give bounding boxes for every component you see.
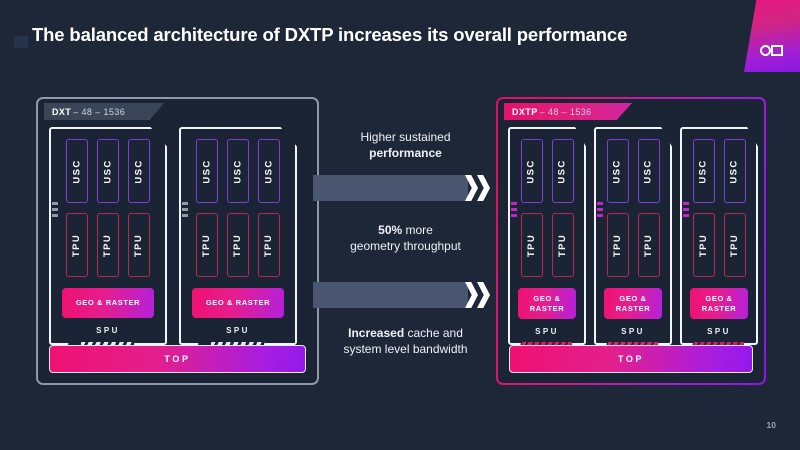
- brand-corner-flag: [744, 0, 800, 72]
- callout-3-line2: system level bandwidth: [343, 342, 467, 356]
- arrow-performance: [313, 175, 498, 201]
- spu-frame: [508, 127, 586, 345]
- panel-dxtp-tab-name: DXTP: [512, 107, 538, 117]
- arrow-bandwidth: [313, 282, 498, 308]
- callout-performance: Higher sustained performance: [313, 129, 498, 161]
- arrow-shaft: [313, 175, 468, 201]
- spu-frame: [594, 127, 672, 345]
- panel-dxtp-tab-spec: – 48 – 1536: [540, 107, 592, 117]
- logo-square-icon: [771, 45, 783, 56]
- top-bus-bar[interactable]: TOP: [509, 345, 753, 373]
- logo-circle-icon: [760, 45, 771, 56]
- callout-1-line1: Higher sustained: [360, 130, 450, 144]
- panel-dxt-tab-name: DXT: [52, 107, 71, 117]
- callout-geometry: 50% more geometry throughput: [313, 222, 498, 254]
- spu-tick-marks-icon: [683, 202, 689, 217]
- spu-frame: [680, 127, 758, 345]
- spu-block[interactable]: USC USC USC TPU TPU TPU GEO & RASTER SPU: [179, 127, 297, 355]
- dxtp-spu-row: USC USC TPU TPU GEO &RASTER SPU USC: [508, 127, 758, 355]
- callout-2-lead-rest: more: [402, 223, 433, 237]
- spu-block[interactable]: USC USC TPU TPU GEO &RASTER SPU: [594, 127, 672, 355]
- callout-3-lead: Increased: [348, 326, 404, 340]
- spu-tick-marks-icon: [52, 202, 58, 217]
- callout-2-line2: geometry throughput: [350, 239, 461, 253]
- panel-dxt-tab: DXT – 48 – 1536: [44, 103, 164, 120]
- panel-dxt-tab-spec: – 48 – 1536: [73, 107, 125, 117]
- spu-tick-marks-icon: [597, 202, 603, 217]
- page-title: The balanced architecture of DXTP increa…: [32, 24, 627, 46]
- title-bar: The balanced architecture of DXTP increa…: [0, 24, 740, 60]
- spu-block[interactable]: USC USC TPU TPU GEO &RASTER SPU: [680, 127, 758, 355]
- chevron-right-icon: [477, 282, 490, 308]
- brand-logo: [760, 44, 786, 58]
- spu-tick-marks-icon: [511, 202, 517, 217]
- top-bus-bar[interactable]: TOP: [49, 345, 306, 373]
- arrow-shaft: [313, 282, 468, 308]
- callout-2-lead: 50%: [378, 223, 402, 237]
- page-number: 10: [767, 420, 776, 430]
- panel-dxt: DXT – 48 – 1536 USC USC USC TPU TPU TPU …: [36, 97, 319, 385]
- chevron-right-icon: [477, 175, 490, 201]
- panel-dxtp: DXTP – 48 – 1536 USC USC TPU TPU GEO &RA…: [496, 97, 766, 385]
- callout-column: Higher sustained performance 50% more ge…: [313, 97, 498, 385]
- callout-1-line2: performance: [369, 146, 442, 160]
- slide-canvas: The balanced architecture of DXTP increa…: [0, 0, 800, 450]
- spu-block[interactable]: USC USC USC TPU TPU TPU GEO & RASTER SPU: [49, 127, 167, 355]
- spu-block[interactable]: USC USC TPU TPU GEO &RASTER SPU: [508, 127, 586, 355]
- title-marker-icon: [14, 36, 28, 48]
- callout-3-lead-rest: cache and: [404, 326, 463, 340]
- callout-cache: Increased cache and system level bandwid…: [313, 325, 498, 357]
- panel-dxtp-tab: DXTP – 48 – 1536: [504, 103, 632, 120]
- spu-tick-marks-icon: [182, 202, 188, 217]
- dxt-spu-row: USC USC USC TPU TPU TPU GEO & RASTER SPU: [49, 127, 297, 355]
